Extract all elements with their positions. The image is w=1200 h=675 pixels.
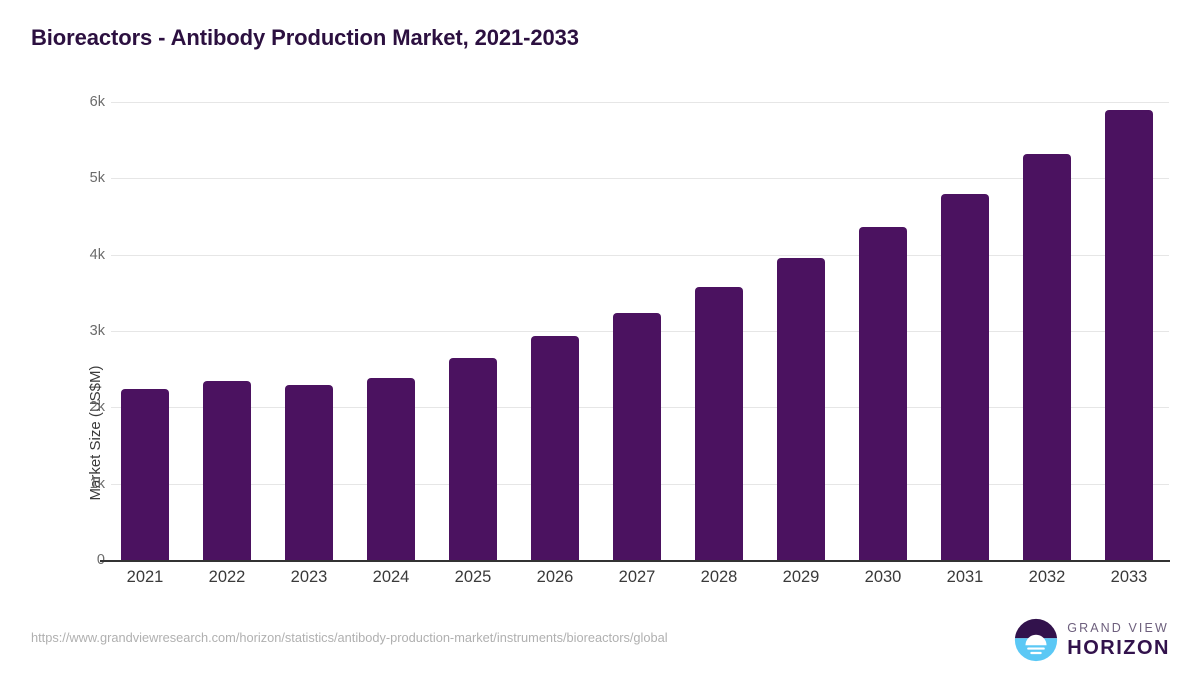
chart-figure: Bioreactors - Antibody Production Market… [0, 0, 1200, 675]
bar[interactable] [203, 381, 251, 560]
x-tick-label: 2026 [514, 568, 596, 587]
bar[interactable] [1105, 110, 1153, 560]
bar[interactable] [695, 287, 743, 560]
bar[interactable] [1023, 154, 1071, 560]
bar[interactable] [367, 378, 415, 560]
y-tick-mark [111, 178, 121, 179]
plot-area: Market Size (US$M) [121, 102, 1169, 560]
horizon-circle-icon [1014, 618, 1058, 662]
bar[interactable] [941, 194, 989, 560]
y-tick-mark [111, 255, 121, 256]
bar[interactable] [121, 389, 169, 560]
gridline [121, 102, 1169, 103]
x-tick-label: 2024 [350, 568, 432, 587]
x-tick-label: 2023 [268, 568, 350, 587]
y-tick-label: 0 [65, 552, 105, 568]
x-tick-label: 2029 [760, 568, 842, 587]
y-tick-label: 2k [65, 399, 105, 415]
y-tick-mark [111, 407, 121, 408]
logo-text-grand-view: GRAND VIEW [1067, 622, 1170, 635]
y-tick-label: 5k [65, 170, 105, 186]
bar[interactable] [613, 313, 661, 560]
x-tick-label: 2027 [596, 568, 678, 587]
x-tick-label: 2030 [842, 568, 924, 587]
y-tick-mark [111, 484, 121, 485]
x-tick-label: 2022 [186, 568, 268, 587]
gridline [121, 255, 1169, 256]
y-tick-label: 1k [65, 476, 105, 492]
x-axis-line [100, 560, 1170, 562]
bar[interactable] [777, 258, 825, 560]
gridline [121, 178, 1169, 179]
logo-wordmark: GRAND VIEW HORIZON [1067, 622, 1170, 659]
x-tick-label: 2028 [678, 568, 760, 587]
y-tick-mark [111, 331, 121, 332]
y-tick-label: 6k [65, 94, 105, 110]
x-tick-label: 2031 [924, 568, 1006, 587]
y-tick-mark [111, 102, 121, 103]
bar[interactable] [285, 385, 333, 560]
brand-logo: GRAND VIEW HORIZON [1014, 617, 1170, 663]
bar[interactable] [859, 227, 907, 560]
x-tick-label: 2021 [104, 568, 186, 587]
logo-text-horizon: HORIZON [1067, 638, 1170, 658]
bar[interactable] [449, 358, 497, 560]
y-tick-label: 3k [65, 323, 105, 339]
x-tick-label: 2025 [432, 568, 514, 587]
source-url-text: https://www.grandviewresearch.com/horizo… [31, 630, 668, 645]
x-tick-label: 2032 [1006, 568, 1088, 587]
y-tick-label: 4k [65, 247, 105, 263]
bar[interactable] [531, 336, 579, 560]
x-tick-label: 2033 [1088, 568, 1170, 587]
page-title: Bioreactors - Antibody Production Market… [31, 25, 579, 51]
